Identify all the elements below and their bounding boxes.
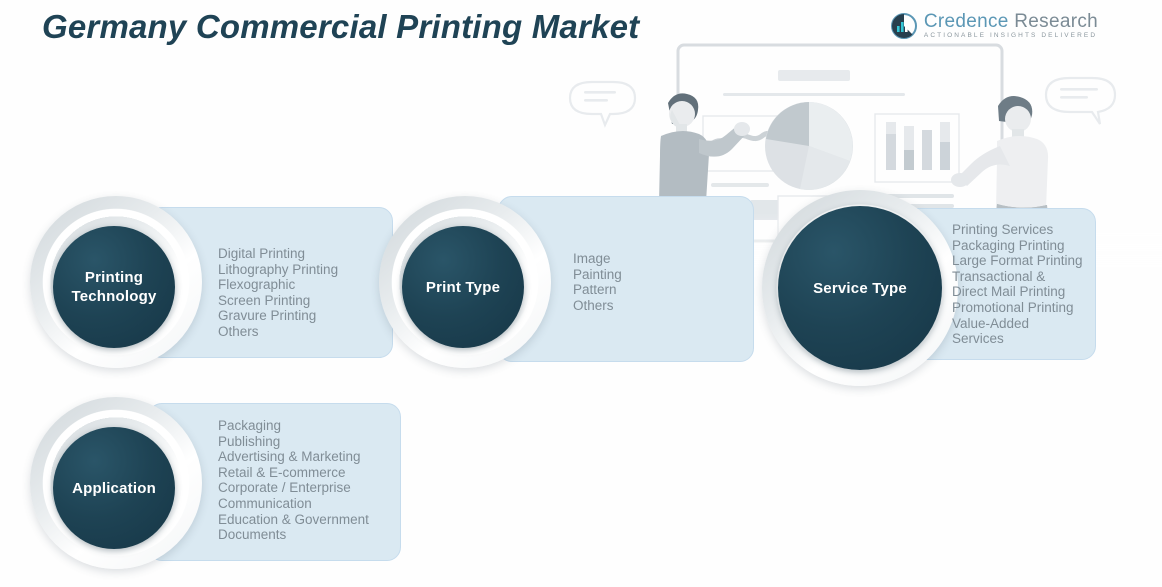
logo-name-primary: Credence	[924, 11, 1009, 32]
credence-research-logo: Credence Research Actionable Insights De…	[891, 12, 1098, 40]
disc-service-type[interactable]: Service Type	[778, 206, 942, 370]
list-item: Lithography Printing	[218, 262, 338, 278]
list-item: Others	[573, 298, 622, 314]
list-item: Transactional &	[952, 269, 1083, 285]
list-item: Flexographic	[218, 277, 338, 293]
list-item: Documents	[218, 527, 369, 543]
segment-label: Printing Technology	[53, 268, 175, 306]
list-item: Corporate / Enterprise	[218, 480, 369, 496]
logo-tagline: Actionable Insights Delivered	[924, 33, 1098, 40]
list-item: Packaging Printing	[952, 238, 1083, 254]
list-item: Digital Printing	[218, 246, 338, 262]
list-item: Communication	[218, 496, 369, 512]
page-title: Germany Commercial Printing Market	[42, 8, 639, 46]
list-item: Direct Mail Printing	[952, 284, 1083, 300]
list-item: Large Format Printing	[952, 253, 1083, 269]
list-printing-technology: Digital Printing Lithography Printing Fl…	[218, 246, 338, 340]
list-item: Screen Printing	[218, 293, 338, 309]
logo-name-secondary: Research	[1014, 11, 1098, 32]
list-item: Painting	[573, 267, 622, 283]
list-item: Gravure Printing	[218, 308, 338, 324]
list-service-type: Printing Services Packaging Printing Lar…	[952, 222, 1083, 347]
list-item: Value-Added	[952, 316, 1083, 332]
segment-label: Service Type	[805, 279, 915, 298]
list-item: Education & Government	[218, 512, 369, 528]
list-item: Pattern	[573, 282, 622, 298]
list-print-type: Image Painting Pattern Others	[573, 251, 622, 313]
disc-printing-technology[interactable]: Printing Technology	[53, 226, 175, 348]
bar-chart-circle-icon	[891, 13, 917, 39]
list-application: Packaging Publishing Advertising & Marke…	[218, 418, 369, 543]
list-item: Others	[218, 324, 338, 340]
disc-print-type[interactable]: Print Type	[402, 226, 524, 348]
list-item: Publishing	[218, 434, 369, 450]
list-item: Image	[573, 251, 622, 267]
segment-label: Print Type	[418, 278, 508, 297]
list-item: Advertising & Marketing	[218, 449, 369, 465]
list-item: Promotional Printing	[952, 300, 1083, 316]
disc-application[interactable]: Application	[53, 427, 175, 549]
list-item: Packaging	[218, 418, 369, 434]
infographic-canvas: Germany Commercial Printing Market Crede…	[0, 0, 1162, 587]
list-item: Services	[952, 331, 1083, 347]
segment-label: Application	[64, 479, 164, 498]
list-item: Retail & E-commerce	[218, 465, 369, 481]
list-item: Printing Services	[952, 222, 1083, 238]
